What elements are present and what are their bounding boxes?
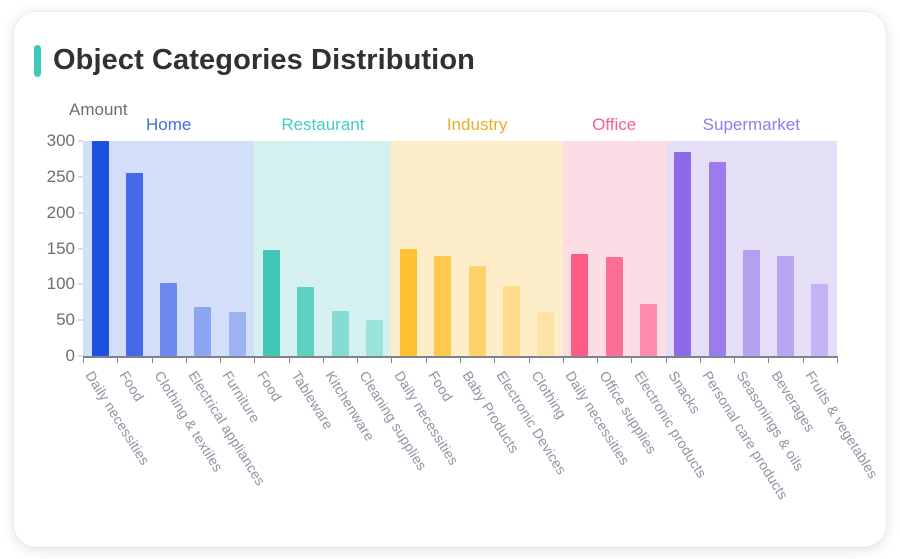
bar[interactable] — [92, 141, 109, 356]
x-axis-tick-mark — [357, 356, 358, 363]
bar[interactable] — [709, 162, 726, 356]
x-axis-tick-label: Food — [425, 368, 456, 404]
x-axis-tick-mark — [768, 356, 769, 363]
bar[interactable] — [126, 173, 143, 356]
bar[interactable] — [811, 284, 828, 356]
bar[interactable] — [777, 256, 794, 356]
x-axis-tick-mark — [83, 356, 84, 363]
x-axis-tick-label: Food — [117, 368, 148, 404]
x-axis-tick-mark — [597, 356, 598, 363]
plot-area: HomeRestaurantIndustryOfficeSupermarket — [83, 141, 837, 356]
group-label-restaurant: Restaurant — [281, 115, 364, 135]
bar[interactable] — [332, 311, 349, 356]
group-label-supermarket: Supermarket — [703, 115, 800, 135]
bar[interactable] — [571, 254, 588, 356]
bar[interactable] — [400, 249, 417, 357]
x-axis-tick-mark — [837, 356, 838, 363]
x-axis-tick-mark — [426, 356, 427, 363]
x-axis-tick-mark — [220, 356, 221, 363]
bar[interactable] — [606, 257, 623, 356]
y-axis-tick-label: 200 — [47, 203, 75, 223]
bar[interactable] — [674, 152, 691, 356]
bar[interactable] — [537, 312, 554, 356]
y-axis-tick-label: 50 — [56, 310, 75, 330]
bar[interactable] — [640, 304, 657, 356]
x-axis-tick-mark — [323, 356, 324, 363]
bar[interactable] — [263, 250, 280, 356]
x-axis-tick-mark — [391, 356, 392, 363]
group-label-industry: Industry — [447, 115, 507, 135]
chart-header: Object Categories Distribution — [34, 44, 475, 77]
x-axis-tick-mark — [734, 356, 735, 363]
bar[interactable] — [743, 250, 760, 356]
y-axis-tick-label: 150 — [47, 239, 75, 259]
x-axis-tick-mark — [700, 356, 701, 363]
y-axis: 050100150200250300 — [14, 12, 83, 547]
bar[interactable] — [469, 266, 486, 356]
bar[interactable] — [194, 307, 211, 356]
x-axis-tick-mark — [494, 356, 495, 363]
x-axis-tick-mark — [289, 356, 290, 363]
x-axis-tick-mark — [563, 356, 564, 363]
bar[interactable] — [229, 312, 246, 356]
group-label-office: Office — [592, 115, 636, 135]
y-axis-tick-label: 250 — [47, 167, 75, 187]
group-label-home: Home — [146, 115, 191, 135]
y-axis-tick-label: 0 — [66, 346, 75, 366]
x-axis-tick-mark — [666, 356, 667, 363]
y-axis-tick-label: 300 — [47, 131, 75, 151]
x-axis-tick-mark — [117, 356, 118, 363]
x-axis-tick-mark — [460, 356, 461, 363]
x-axis-tick-mark — [631, 356, 632, 363]
bar[interactable] — [366, 320, 383, 356]
x-axis-tick-mark — [529, 356, 530, 363]
y-axis-tick-label: 100 — [47, 274, 75, 294]
x-axis-tick-mark — [803, 356, 804, 363]
x-axis-tick-label: Food — [254, 368, 285, 404]
bar[interactable] — [434, 256, 451, 356]
x-axis-tick-mark — [186, 356, 187, 363]
chart-card: Object Categories Distribution Amount 05… — [14, 12, 886, 547]
x-axis-tick-mark — [254, 356, 255, 363]
bar[interactable] — [297, 287, 314, 356]
bar[interactable] — [160, 283, 177, 356]
x-axis-tick-label: Daily necessities — [83, 368, 154, 468]
x-axis-tick-mark — [152, 356, 153, 363]
bar[interactable] — [503, 286, 520, 356]
page-title: Object Categories Distribution — [53, 44, 475, 77]
